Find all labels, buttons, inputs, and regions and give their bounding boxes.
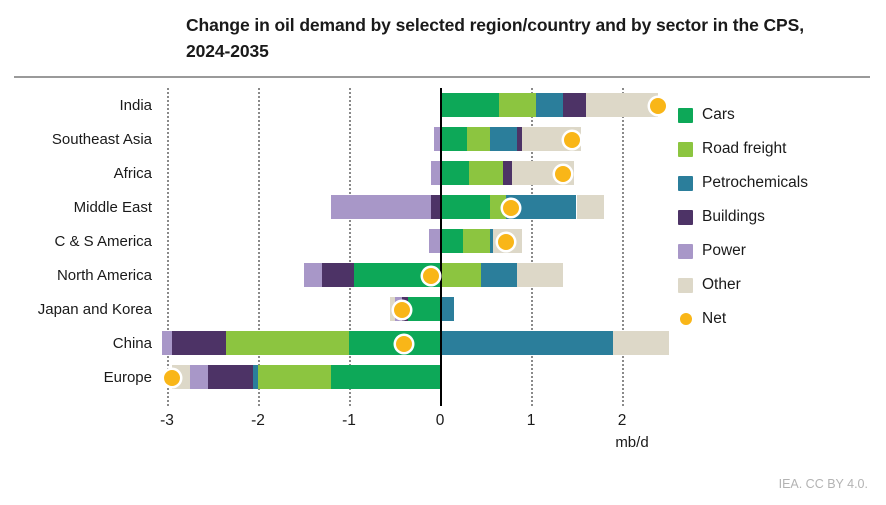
- y-axis-label: Africa: [0, 156, 160, 190]
- bar-segment-buildings: [431, 195, 440, 219]
- bar-segment-buildings: [503, 161, 512, 185]
- bar-segment-petrochemicals: [440, 297, 454, 321]
- bar-segment-road-freight: [469, 161, 503, 185]
- legend-item-road-freight[interactable]: Road freight: [678, 132, 878, 166]
- plot-area: [167, 88, 622, 406]
- bar-segment-cars: [440, 127, 467, 151]
- bar-segment-petrochemicals: [440, 331, 613, 355]
- y-axis-label: C & S America: [0, 224, 160, 258]
- header-divider: [14, 76, 870, 78]
- net-marker: [555, 166, 571, 182]
- legend-item-label: Cars: [702, 106, 735, 124]
- legend: CarsRoad freightPetrochemicalsBuildingsP…: [678, 98, 878, 336]
- legend-item-buildings[interactable]: Buildings: [678, 200, 878, 234]
- bar-segment-petrochemicals: [481, 263, 517, 287]
- bar-rows: [167, 88, 622, 406]
- zero-axis-line: [440, 88, 442, 406]
- bar-segment-power: [331, 195, 431, 219]
- legend-item-label: Petrochemicals: [702, 174, 808, 192]
- bar-segment-other: [613, 331, 669, 355]
- x-axis-tick-label: 1: [501, 412, 561, 430]
- bar-row: [167, 190, 622, 224]
- y-axis-labels: IndiaSoutheast AsiaAfricaMiddle EastC & …: [0, 88, 160, 406]
- bar-segment-other: [577, 195, 604, 219]
- net-marker: [164, 370, 180, 386]
- legend-swatch-icon: [678, 278, 693, 293]
- legend-item-label: Other: [702, 276, 741, 294]
- bar-segment-road-freight: [440, 263, 481, 287]
- legend-swatch-icon: [678, 244, 693, 259]
- bar-segment-power: [162, 331, 171, 355]
- x-axis-tick-label: 0: [410, 412, 470, 430]
- y-axis-label: India: [0, 88, 160, 122]
- x-axis-ticks: -3-2-1012: [167, 412, 622, 434]
- bar-segment-buildings: [208, 365, 254, 389]
- net-marker: [498, 234, 514, 250]
- chart-page: Change in oil demand by selected region/…: [0, 0, 886, 505]
- net-marker: [503, 200, 519, 216]
- bar-segment-other: [586, 93, 659, 117]
- bar-segment-petrochemicals: [490, 127, 517, 151]
- legend-item-cars[interactable]: Cars: [678, 98, 878, 132]
- y-axis-label: Europe: [0, 360, 160, 394]
- legend-item-label: Net: [702, 310, 726, 328]
- bar-row: [167, 258, 622, 292]
- bar-segment-cars: [440, 229, 463, 253]
- bar-segment-buildings: [172, 331, 227, 355]
- bar-segment-cars: [331, 365, 440, 389]
- y-axis-label: Middle East: [0, 190, 160, 224]
- bar-segment-road-freight: [467, 127, 490, 151]
- bar-row: [167, 360, 622, 394]
- bar-segment-power: [429, 229, 440, 253]
- legend-swatch-icon: [678, 176, 693, 191]
- x-axis-tick-label: -2: [228, 412, 288, 430]
- x-axis-unit-label: mb/d: [592, 434, 672, 451]
- bar-row: [167, 122, 622, 156]
- y-axis-label: North America: [0, 258, 160, 292]
- gridline-2: [622, 88, 624, 406]
- x-axis-tick-label: 2: [592, 412, 652, 430]
- bar-segment-road-freight: [258, 365, 331, 389]
- bar-segment-power: [431, 161, 440, 185]
- y-axis-label: Southeast Asia: [0, 122, 160, 156]
- attribution-text: IEA. CC BY 4.0.: [779, 477, 868, 491]
- y-axis-label: Japan and Korea: [0, 292, 160, 326]
- bar-segment-power: [190, 365, 208, 389]
- bar-segment-other: [517, 263, 563, 287]
- bar-segment-road-freight: [226, 331, 349, 355]
- legend-item-net[interactable]: Net: [678, 302, 878, 336]
- bar-row: [167, 326, 622, 360]
- net-marker: [650, 98, 666, 114]
- y-axis-label: China: [0, 326, 160, 360]
- bar-segment-road-freight: [499, 93, 535, 117]
- legend-item-label: Power: [702, 242, 746, 260]
- bar-segment-cars: [440, 161, 469, 185]
- net-marker: [396, 336, 412, 352]
- legend-item-petrochemicals[interactable]: Petrochemicals: [678, 166, 878, 200]
- bar-segment-buildings: [563, 93, 586, 117]
- bar-row: [167, 292, 622, 326]
- x-axis-tick-label: -3: [137, 412, 197, 430]
- legend-item-power[interactable]: Power: [678, 234, 878, 268]
- bar-segment-cars: [349, 331, 440, 355]
- x-axis-tick-label: -1: [319, 412, 379, 430]
- bar-segment-road-freight: [463, 229, 490, 253]
- net-marker: [564, 132, 580, 148]
- bar-row: [167, 156, 622, 190]
- bar-segment-power: [304, 263, 322, 287]
- legend-swatch-icon: [678, 108, 693, 123]
- legend-swatch-icon: [678, 210, 693, 225]
- bar-segment-petrochemicals: [536, 93, 563, 117]
- legend-item-label: Road freight: [702, 140, 786, 158]
- bar-segment-buildings: [322, 263, 354, 287]
- bar-row: [167, 88, 622, 122]
- net-marker: [423, 268, 439, 284]
- net-marker: [394, 302, 410, 318]
- legend-dot-icon: [680, 313, 692, 325]
- page-title: Change in oil demand by selected region/…: [186, 12, 846, 64]
- legend-item-other[interactable]: Other: [678, 268, 878, 302]
- bar-segment-cars: [440, 195, 490, 219]
- bar-segment-cars: [408, 297, 440, 321]
- legend-swatch-icon: [678, 142, 693, 157]
- legend-item-label: Buildings: [702, 208, 765, 226]
- bar-segment-cars: [440, 93, 499, 117]
- bar-row: [167, 224, 622, 258]
